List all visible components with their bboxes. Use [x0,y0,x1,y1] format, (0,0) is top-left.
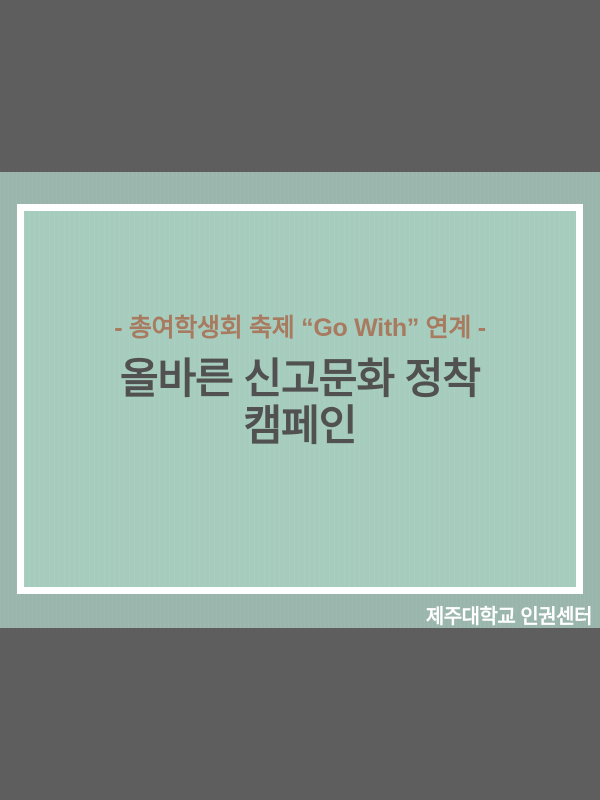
letterbox-band-top [0,0,600,172]
organization-footer: 제주대학교 인권센터 [426,600,592,628]
slide-area: - 총여학생회 축제 “Go With” 연계 - 올바른 신고문화 정착 캠페… [0,172,600,628]
poster-subtitle: - 총여학생회 축제 “Go With” 연계 - [24,315,576,343]
white-framed-panel: - 총여학생회 축제 “Go With” 연계 - 올바른 신고문화 정착 캠페… [17,204,583,594]
poster-title: 올바른 신고문화 정착 캠페인 [24,355,576,451]
letterbox-band-bottom [0,628,600,800]
poster-title-line-1: 올바른 신고문화 정착 [24,355,576,403]
poster-canvas: - 총여학생회 축제 “Go With” 연계 - 올바른 신고문화 정착 캠페… [0,0,600,800]
poster-title-line-2: 캠페인 [24,402,576,450]
poster-text-block: - 총여학생회 축제 “Go With” 연계 - 올바른 신고문화 정착 캠페… [24,315,576,450]
